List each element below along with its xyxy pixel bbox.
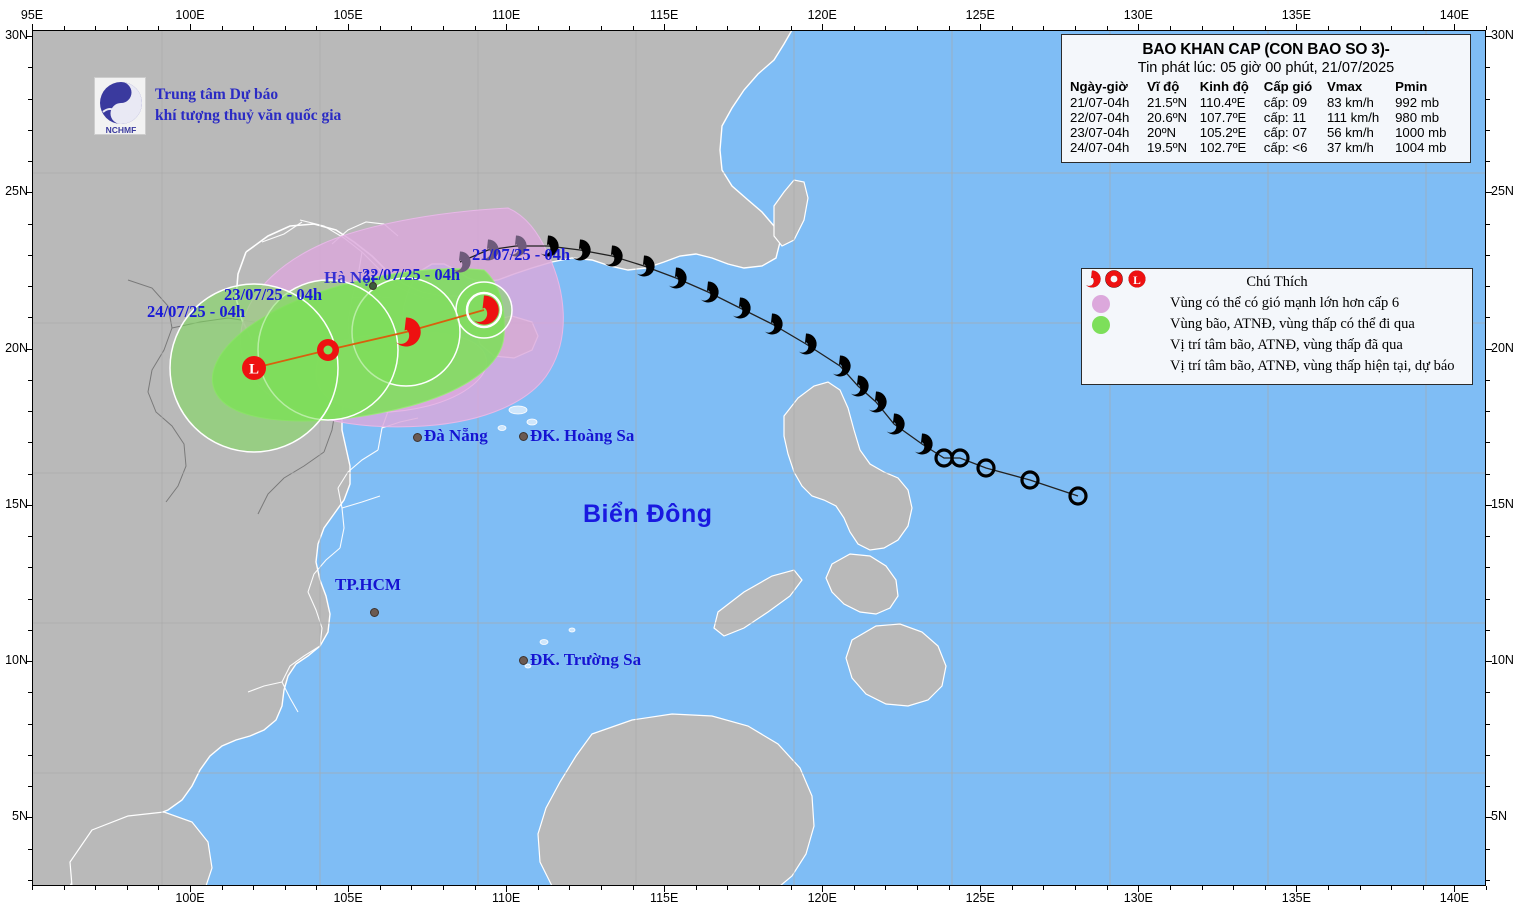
axis-tick-mark bbox=[601, 26, 602, 30]
axis-tick-mark bbox=[1360, 26, 1361, 30]
axis-tick-mark bbox=[32, 886, 33, 890]
axis-tick-mark bbox=[1486, 411, 1490, 412]
info-panel-subtitle: Tin phát lúc: 05 giờ 00 phút, 21/07/2025 bbox=[1070, 60, 1462, 76]
axis-tick-label: 100E bbox=[175, 8, 204, 22]
axis-tick-mark bbox=[1012, 886, 1013, 890]
axis-tick-mark bbox=[28, 317, 32, 318]
nchmf-logo-text: Trung tâm Dự báo khí tượng thuỷ văn quốc… bbox=[155, 85, 341, 127]
axis-tick-mark bbox=[538, 886, 539, 890]
axis-tick-mark bbox=[1075, 886, 1076, 890]
axis-tick-mark bbox=[1107, 26, 1108, 30]
axis-tick-mark bbox=[1170, 886, 1171, 890]
landmass-taiwan bbox=[774, 180, 808, 246]
map-legend-panel: Chú Thích Vùng có thể có gió mạnh lớn hơ… bbox=[1081, 268, 1473, 385]
axis-tick-mark bbox=[917, 26, 918, 30]
current-position-icons: L bbox=[1082, 269, 1152, 289]
axis-tick-mark bbox=[917, 886, 918, 890]
axis-tick-mark bbox=[633, 26, 634, 30]
green-circle-icon bbox=[1092, 316, 1110, 334]
cell-windlevel: cấp: 07 bbox=[1264, 125, 1327, 140]
axis-tick-mark bbox=[727, 26, 728, 30]
landmass-borneo bbox=[538, 714, 814, 886]
axis-tick-mark bbox=[28, 130, 32, 131]
axis-tick-mark bbox=[316, 26, 317, 30]
axis-tick-label: 30N bbox=[5, 28, 28, 42]
axis-tick-label: 115E bbox=[650, 891, 678, 905]
axis-tick-mark bbox=[222, 886, 223, 890]
landmass-palawan bbox=[714, 570, 802, 636]
axis-tick-label: 5N bbox=[12, 809, 28, 823]
axis-tick-mark bbox=[1423, 886, 1424, 890]
cell-datetime: 22/07-04h bbox=[1070, 110, 1147, 125]
axis-tick-mark bbox=[348, 886, 349, 890]
logo-line-1: Trung tâm Dự báo bbox=[155, 85, 341, 106]
axis-tick-mark bbox=[28, 567, 32, 568]
axis-tick-mark bbox=[569, 886, 570, 890]
axis-tick-label: 15N bbox=[1491, 497, 1514, 511]
cell-pmin: 992 mb bbox=[1395, 95, 1462, 110]
axis-tick-mark bbox=[411, 26, 412, 30]
axis-tick-label: 30N bbox=[1491, 28, 1514, 42]
axis-tick-mark bbox=[158, 26, 159, 30]
axis-tick-mark bbox=[1360, 886, 1361, 890]
axis-tick-mark bbox=[28, 349, 32, 350]
legend-item-track-zone: Vùng bão, ATNĐ, vùng thấp có thể đi qua bbox=[1088, 314, 1466, 335]
axis-tick-mark bbox=[28, 442, 32, 443]
axis-tick-mark bbox=[443, 886, 444, 890]
axis-tick-label: 120E bbox=[808, 891, 837, 905]
col-header-pmin: Pmin bbox=[1395, 79, 1462, 95]
axis-tick-mark bbox=[885, 26, 886, 30]
cell-longitude: 102.7ºE bbox=[1200, 140, 1264, 155]
axis-tick-mark bbox=[1486, 442, 1490, 443]
axis-tick-mark bbox=[253, 26, 254, 30]
axis-tick-mark bbox=[28, 786, 32, 787]
axis-tick-mark bbox=[664, 886, 665, 890]
legend-text-gale-zone: Vùng có thể có gió mạnh lớn hơn cấp 6 bbox=[1170, 295, 1399, 312]
axis-tick-mark bbox=[1043, 26, 1044, 30]
axis-tick-mark bbox=[1107, 886, 1108, 890]
axis-tick-mark bbox=[1486, 817, 1490, 818]
axis-tick-mark bbox=[285, 26, 286, 30]
axis-tick-mark bbox=[1486, 224, 1490, 225]
city-label-hoang-sa: ĐK. Hoàng Sa bbox=[530, 426, 634, 446]
col-header-vmax: Vmax bbox=[1327, 79, 1395, 95]
axis-tick-mark bbox=[380, 26, 381, 30]
axis-tick-mark bbox=[1486, 474, 1490, 475]
axis-tick-mark bbox=[1486, 255, 1490, 256]
storm-forecast-table: Ngày-giờ Vĩ độ Kinh độ Cấp gió Vmax Pmin… bbox=[1070, 79, 1462, 155]
axis-tick-mark bbox=[1486, 661, 1490, 662]
nchmf-logo-icon: NCHMF bbox=[94, 77, 146, 135]
map-canvas[interactable]: L 21/07/25 - 04h 22/07/25 - 04h 23/07/25… bbox=[32, 30, 1486, 886]
cell-pmin: 1004 mb bbox=[1395, 140, 1462, 155]
axis-tick-mark bbox=[664, 26, 665, 30]
axis-tick-mark bbox=[253, 886, 254, 890]
axis-tick-label: 25N bbox=[1491, 184, 1514, 198]
landmass-mindanao bbox=[846, 624, 946, 706]
axis-tick-mark bbox=[348, 26, 349, 30]
axis-tick-mark bbox=[28, 286, 32, 287]
forecast-marker-24-07: L bbox=[242, 356, 266, 380]
forecast-label-21-07: 21/07/25 - 04h bbox=[472, 245, 570, 265]
axis-tick-mark bbox=[1486, 286, 1490, 287]
axis-tick-mark bbox=[28, 599, 32, 600]
axis-tick-mark bbox=[28, 161, 32, 162]
axis-tick-mark bbox=[1486, 567, 1490, 568]
city-dot-da-nang bbox=[413, 433, 422, 442]
axis-tick-mark bbox=[28, 67, 32, 68]
axis-tick-mark bbox=[1486, 26, 1487, 30]
axis-tick-mark bbox=[822, 26, 823, 30]
axis-tick-mark bbox=[1486, 130, 1490, 131]
axis-tick-mark bbox=[158, 886, 159, 890]
purple-circle-icon bbox=[1092, 295, 1110, 313]
cell-longitude: 107.7ºE bbox=[1200, 110, 1264, 125]
axis-tick-label: 140E bbox=[1440, 891, 1469, 905]
axis-tick-mark bbox=[1486, 67, 1490, 68]
axis-tick-mark bbox=[1486, 36, 1490, 37]
axis-tick-mark bbox=[1328, 26, 1329, 30]
cell-latitude: 20ºN bbox=[1147, 125, 1200, 140]
axis-tick-mark bbox=[127, 886, 128, 890]
axis-tick-mark bbox=[1486, 536, 1490, 537]
cell-windlevel: cấp: <6 bbox=[1264, 140, 1327, 155]
axis-tick-mark bbox=[411, 886, 412, 890]
axis-tick-mark bbox=[1486, 599, 1490, 600]
axis-tick-label: 125E bbox=[966, 891, 995, 905]
axis-tick-mark bbox=[1486, 755, 1490, 756]
axis-tick-mark bbox=[1138, 26, 1139, 30]
axis-tick-mark bbox=[1486, 886, 1487, 890]
axis-tick-mark bbox=[569, 26, 570, 30]
landmass-visayas bbox=[826, 554, 898, 614]
axis-tick-mark bbox=[28, 192, 32, 193]
axis-tick-label: 115E bbox=[650, 8, 678, 22]
axis-tick-mark bbox=[791, 886, 792, 890]
axis-tick-mark bbox=[854, 886, 855, 890]
axis-tick-mark bbox=[949, 26, 950, 30]
cell-latitude: 21.5ºN bbox=[1147, 95, 1200, 110]
axis-tick-mark bbox=[506, 26, 507, 30]
axis-tick-mark bbox=[1486, 724, 1490, 725]
landmass-luzon bbox=[784, 382, 912, 550]
city-label-truong-sa: ĐK. Trường Sa bbox=[530, 650, 641, 670]
axis-tick-label: 105E bbox=[333, 8, 362, 22]
axis-tick-mark bbox=[1233, 26, 1234, 30]
axis-tick-mark bbox=[127, 26, 128, 30]
legend-symbol-green-zone bbox=[1088, 316, 1162, 334]
axis-tick-mark bbox=[1486, 317, 1490, 318]
axis-tick-mark bbox=[1454, 26, 1455, 30]
cell-windlevel: cấp: 11 bbox=[1264, 110, 1327, 125]
svg-text:L: L bbox=[1133, 275, 1141, 287]
legend-text-past-positions: Vị trí tâm bão, ATNĐ, vùng thấp đã qua bbox=[1170, 337, 1403, 354]
svg-text:L: L bbox=[249, 362, 259, 378]
axis-tick-mark bbox=[1328, 886, 1329, 890]
cell-vmax: 83 km/h bbox=[1327, 95, 1395, 110]
cell-longitude: 110.4ºE bbox=[1200, 95, 1264, 110]
axis-tick-mark bbox=[1486, 880, 1490, 881]
table-row: 23/07-04h 20ºN 105.2ºE cấp: 07 56 km/h 1… bbox=[1070, 125, 1462, 140]
col-header-latitude: Vĩ độ bbox=[1147, 79, 1200, 95]
past-track-cyclone-markers bbox=[541, 235, 933, 454]
axis-tick-mark bbox=[1391, 26, 1392, 30]
forecast-label-22-07: 22/07/25 - 04h bbox=[362, 265, 460, 285]
legend-item-gale-zone: Vùng có thể có gió mạnh lớn hơn cấp 6 bbox=[1088, 293, 1466, 314]
cell-vmax: 37 km/h bbox=[1327, 140, 1395, 155]
axis-tick-mark bbox=[475, 26, 476, 30]
axis-tick-mark bbox=[1265, 26, 1266, 30]
axis-tick-label: 140E bbox=[1440, 8, 1469, 22]
axis-tick-label: 20N bbox=[5, 341, 28, 355]
axis-tick-mark bbox=[28, 692, 32, 693]
axis-tick-mark bbox=[32, 26, 33, 30]
axis-tick-label: 105E bbox=[333, 891, 362, 905]
axis-tick-mark bbox=[1138, 886, 1139, 890]
axis-tick-mark bbox=[28, 724, 32, 725]
axis-tick-label: 15N bbox=[5, 497, 28, 511]
city-label-da-nang: Đà Nẵng bbox=[424, 426, 488, 446]
axis-tick-mark bbox=[64, 886, 65, 890]
axis-left bbox=[0, 0, 32, 919]
axis-tick-mark bbox=[696, 26, 697, 30]
axis-tick-label: 120E bbox=[808, 8, 837, 22]
axis-tick-mark bbox=[1486, 849, 1490, 850]
axis-tick-mark bbox=[28, 661, 32, 662]
city-dot-truong-sa bbox=[519, 656, 528, 665]
legend-text-current-positions: Vị trí tâm bão, ATNĐ, vùng thấp hiện tại… bbox=[1170, 358, 1455, 375]
axis-tick-mark bbox=[95, 886, 96, 890]
nchmf-badge-text: NCHMF bbox=[106, 125, 137, 135]
axis-tick-mark bbox=[1486, 786, 1490, 787]
legend-text-track-zone: Vùng bão, ATNĐ, vùng thấp có thể đi qua bbox=[1170, 316, 1415, 333]
legend-item-past-positions: L Vị trí tâm bão, ATNĐ, vùng thấp đã qua bbox=[1088, 335, 1466, 356]
axis-tick-mark bbox=[28, 99, 32, 100]
axis-tick-mark bbox=[1454, 886, 1455, 890]
table-row: 22/07-04h 20.6ºN 107.7ºE cấp: 11 111 km/… bbox=[1070, 110, 1462, 125]
axis-tick-mark bbox=[28, 880, 32, 881]
axis-tick-mark bbox=[64, 26, 65, 30]
axis-tick-mark bbox=[28, 380, 32, 381]
axis-tick-mark bbox=[538, 26, 539, 30]
legend-item-current-positions: L Vị trí tâm bão, ATNĐ, vùng thấp hiện t… bbox=[1088, 356, 1466, 377]
axis-tick-mark bbox=[727, 886, 728, 890]
axis-tick-mark bbox=[1486, 99, 1490, 100]
axis-tick-mark bbox=[28, 505, 32, 506]
axis-tick-mark bbox=[1170, 26, 1171, 30]
axis-tick-mark bbox=[1296, 886, 1297, 890]
cell-pmin: 1000 mb bbox=[1395, 125, 1462, 140]
axis-tick-label: 135E bbox=[1282, 8, 1311, 22]
axis-tick-mark bbox=[791, 26, 792, 30]
cell-vmax: 111 km/h bbox=[1327, 110, 1395, 125]
axis-tick-mark bbox=[316, 886, 317, 890]
axis-tick-label: 110E bbox=[492, 8, 520, 22]
axis-tick-mark bbox=[285, 886, 286, 890]
axis-tick-mark bbox=[1265, 886, 1266, 890]
axis-tick-mark bbox=[380, 886, 381, 890]
axis-tick-mark bbox=[222, 26, 223, 30]
axis-tick-mark bbox=[28, 411, 32, 412]
cell-vmax: 56 km/h bbox=[1327, 125, 1395, 140]
axis-tick-mark bbox=[28, 255, 32, 256]
axis-tick-mark bbox=[601, 886, 602, 890]
axis-tick-mark bbox=[28, 36, 32, 37]
axis-tick-label: 125E bbox=[966, 8, 995, 22]
cell-windlevel: cấp: 09 bbox=[1264, 95, 1327, 110]
axis-tick-mark bbox=[1012, 26, 1013, 30]
city-dot-hoang-sa bbox=[519, 432, 528, 441]
nchmf-logo-block: NCHMF Trung tâm Dự báo khí tượng thuỷ vă… bbox=[94, 77, 341, 135]
axis-tick-mark bbox=[854, 26, 855, 30]
axis-tick-mark bbox=[1233, 886, 1234, 890]
legend-symbol-purple-zone bbox=[1088, 295, 1162, 313]
axis-tick-mark bbox=[95, 26, 96, 30]
axis-tick-label: 5N bbox=[1491, 809, 1507, 823]
axis-tick-mark bbox=[1486, 692, 1490, 693]
axis-tick-mark bbox=[506, 886, 507, 890]
axis-tick-mark bbox=[1043, 886, 1044, 890]
axis-tick-mark bbox=[1486, 192, 1490, 193]
axis-tick-mark bbox=[28, 630, 32, 631]
axis-tick-label: 20N bbox=[1491, 341, 1514, 355]
axis-tick-label: 100E bbox=[175, 891, 204, 905]
forecast-label-24-07: 24/07/25 - 04h bbox=[147, 302, 245, 322]
axis-tick-mark bbox=[822, 886, 823, 890]
axis-tick-mark bbox=[633, 886, 634, 890]
sea-label-bien-dong: Biển Đông bbox=[583, 500, 713, 529]
axis-tick-mark bbox=[949, 886, 950, 890]
axis-tick-label: 130E bbox=[1124, 8, 1153, 22]
red-low-icon: L bbox=[1129, 271, 1146, 288]
axis-tick-label: 135E bbox=[1282, 891, 1311, 905]
axis-tick-label: 10N bbox=[5, 653, 28, 667]
axis-tick-mark bbox=[28, 536, 32, 537]
logo-line-2: khí tượng thuỷ văn quốc gia bbox=[155, 106, 341, 127]
axis-tick-mark bbox=[28, 474, 32, 475]
axis-tick-mark bbox=[1296, 26, 1297, 30]
info-panel-title: BAO KHAN CAP (CON BAO SO 3)- bbox=[1070, 41, 1462, 59]
axis-tick-mark bbox=[1486, 505, 1490, 506]
col-header-longitude: Kinh độ bbox=[1200, 79, 1264, 95]
axis-tick-mark bbox=[190, 26, 191, 30]
axis-tick-label: 95E bbox=[21, 8, 43, 22]
axis-tick-mark bbox=[885, 886, 886, 890]
axis-tick-mark bbox=[443, 26, 444, 30]
forecast-marker-23-07 bbox=[317, 339, 339, 361]
cell-datetime: 21/07-04h bbox=[1070, 95, 1147, 110]
table-header-row: Ngày-giờ Vĩ độ Kinh độ Cấp gió Vmax Pmin bbox=[1070, 79, 1462, 95]
axis-tick-label: 130E bbox=[1124, 891, 1153, 905]
axis-tick-label: 10N bbox=[1491, 653, 1514, 667]
axis-tick-mark bbox=[190, 886, 191, 890]
red-ring-icon bbox=[1106, 271, 1123, 288]
col-header-datetime: Ngày-giờ bbox=[1070, 79, 1147, 95]
city-dot-tphcm bbox=[370, 608, 379, 617]
axis-tick-mark bbox=[1486, 161, 1490, 162]
axis-tick-mark bbox=[1391, 886, 1392, 890]
axis-tick-mark bbox=[1075, 26, 1076, 30]
cell-latitude: 20.6ºN bbox=[1147, 110, 1200, 125]
axis-tick-mark bbox=[1486, 380, 1490, 381]
axis-right bbox=[1486, 0, 1519, 919]
axis-tick-mark bbox=[28, 849, 32, 850]
axis-tick-label: 110E bbox=[492, 891, 520, 905]
axis-tick-mark bbox=[1486, 349, 1490, 350]
axis-tick-mark bbox=[1202, 886, 1203, 890]
axis-tick-mark bbox=[1202, 26, 1203, 30]
axis-tick-mark bbox=[28, 817, 32, 818]
axis-tick-mark bbox=[980, 886, 981, 890]
axis-tick-mark bbox=[980, 26, 981, 30]
axis-tick-label: 25N bbox=[5, 184, 28, 198]
axis-tick-mark bbox=[759, 26, 760, 30]
cell-datetime: 24/07-04h bbox=[1070, 140, 1147, 155]
cell-datetime: 23/07-04h bbox=[1070, 125, 1147, 140]
axis-tick-mark bbox=[28, 755, 32, 756]
cell-pmin: 980 mb bbox=[1395, 110, 1462, 125]
axis-tick-mark bbox=[696, 886, 697, 890]
col-header-windlevel: Cấp gió bbox=[1264, 79, 1327, 95]
table-row: 21/07-04h 21.5ºN 110.4ºE cấp: 09 83 km/h… bbox=[1070, 95, 1462, 110]
city-label-tphcm: TP.HCM bbox=[335, 575, 401, 595]
cell-longitude: 105.2ºE bbox=[1200, 125, 1264, 140]
axis-tick-mark bbox=[759, 886, 760, 890]
axis-tick-mark bbox=[475, 886, 476, 890]
axis-tick-mark bbox=[28, 224, 32, 225]
table-row: 24/07-04h 19.5ºN 102.7ºE cấp: <6 37 km/h… bbox=[1070, 140, 1462, 155]
axis-tick-mark bbox=[1486, 630, 1490, 631]
storm-info-panel: BAO KHAN CAP (CON BAO SO 3)- Tin phát lú… bbox=[1061, 34, 1471, 163]
typhoon-track-map-page: L 21/07/25 - 04h 22/07/25 - 04h 23/07/25… bbox=[0, 0, 1519, 919]
cell-latitude: 19.5ºN bbox=[1147, 140, 1200, 155]
axis-tick-mark bbox=[1423, 26, 1424, 30]
